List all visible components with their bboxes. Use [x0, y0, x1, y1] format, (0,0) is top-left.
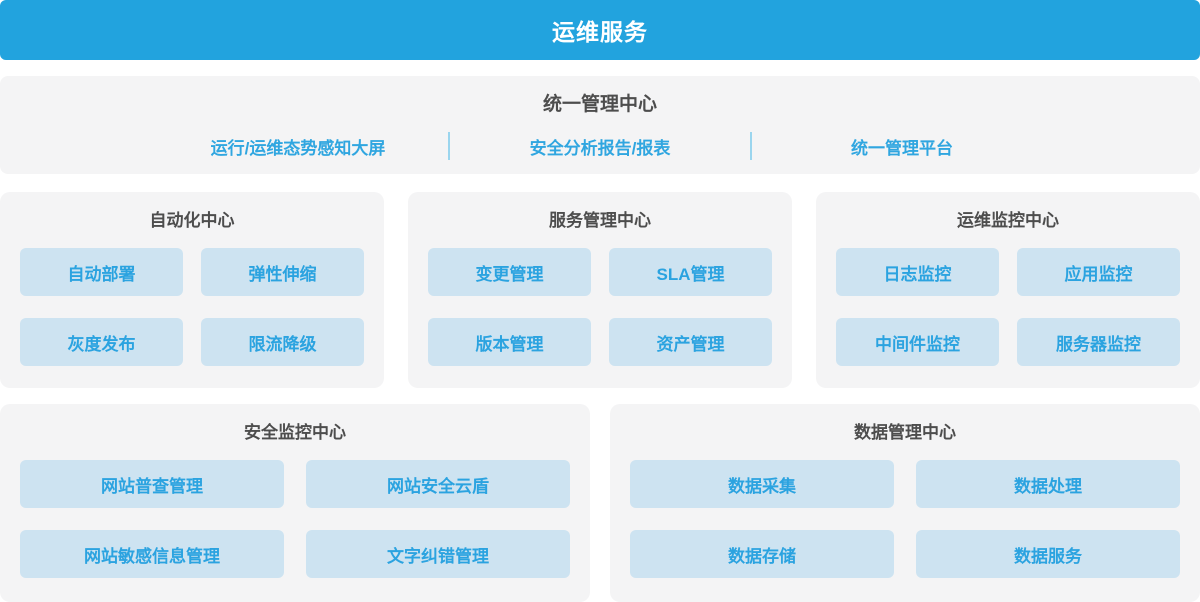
tile-application-monitoring[interactable]: 应用监控: [1017, 248, 1180, 296]
card-title-security-monitoring-center: 安全监控中心: [20, 420, 570, 446]
page-title: 运维服务: [552, 13, 648, 47]
tile-gray-release[interactable]: 灰度发布: [20, 318, 183, 366]
tile-data-collection[interactable]: 数据采集: [630, 460, 894, 508]
tile-website-census-management[interactable]: 网站普查管理: [20, 460, 284, 508]
tile-text-correction-management[interactable]: 文字纠错管理: [306, 530, 570, 578]
tile-asset-management[interactable]: 资产管理: [609, 318, 772, 366]
umc-link-dashboard[interactable]: 运行/运维态势感知大屏: [148, 134, 448, 159]
card-security-monitoring-center: 安全监控中心 网站普查管理 网站安全云盾 网站敏感信息管理 文字纠错管理: [0, 404, 590, 602]
unified-management-center-title: 统一管理中心: [0, 90, 1200, 120]
card-title-service-management-center: 服务管理中心: [428, 208, 772, 234]
header-bar: 运维服务: [0, 0, 1200, 60]
tile-grid-service-management-center: 变更管理 SLA管理 版本管理 资产管理: [428, 248, 772, 366]
tile-data-service[interactable]: 数据服务: [916, 530, 1180, 578]
tile-grid-security-monitoring-center: 网站普查管理 网站安全云盾 网站敏感信息管理 文字纠错管理: [20, 460, 570, 578]
tile-website-security-cloud-shield[interactable]: 网站安全云盾: [306, 460, 570, 508]
card-ops-monitoring-center: 运维监控中心 日志监控 应用监控 中间件监控 服务器监控: [816, 192, 1200, 388]
unified-management-center-links: 运行/运维态势感知大屏 安全分析报告/报表 统一管理平台: [0, 130, 1200, 162]
tile-grid-ops-monitoring-center: 日志监控 应用监控 中间件监控 服务器监控: [836, 248, 1180, 366]
card-data-management-center: 数据管理中心 数据采集 数据处理 数据存储 数据服务: [610, 404, 1200, 602]
tile-server-monitoring[interactable]: 服务器监控: [1017, 318, 1180, 366]
tile-log-monitoring[interactable]: 日志监控: [836, 248, 999, 296]
card-service-management-center: 服务管理中心 变更管理 SLA管理 版本管理 资产管理: [408, 192, 792, 388]
middle-card-row: 自动化中心 自动部署 弹性伸缩 灰度发布 限流降级 服务管理中心 变更管理 SL…: [0, 192, 1200, 388]
unified-management-center-section: 统一管理中心 运行/运维态势感知大屏 安全分析报告/报表 统一管理平台: [0, 76, 1200, 174]
card-title-ops-monitoring-center: 运维监控中心: [836, 208, 1180, 234]
card-title-automation-center: 自动化中心: [20, 208, 364, 234]
card-automation-center: 自动化中心 自动部署 弹性伸缩 灰度发布 限流降级: [0, 192, 384, 388]
architecture-diagram-page: 运维服务 统一管理中心 运行/运维态势感知大屏 安全分析报告/报表 统一管理平台…: [0, 0, 1200, 602]
tile-grid-data-management-center: 数据采集 数据处理 数据存储 数据服务: [630, 460, 1180, 578]
tile-grid-automation-center: 自动部署 弹性伸缩 灰度发布 限流降级: [20, 248, 364, 366]
tile-rate-limit-degrade[interactable]: 限流降级: [201, 318, 364, 366]
card-title-data-management-center: 数据管理中心: [630, 420, 1180, 446]
tile-change-management[interactable]: 变更管理: [428, 248, 591, 296]
tile-data-storage[interactable]: 数据存储: [630, 530, 894, 578]
tile-data-processing[interactable]: 数据处理: [916, 460, 1180, 508]
tile-sla-management[interactable]: SLA管理: [609, 248, 772, 296]
tile-version-management[interactable]: 版本管理: [428, 318, 591, 366]
bottom-card-row: 安全监控中心 网站普查管理 网站安全云盾 网站敏感信息管理 文字纠错管理 数据管…: [0, 404, 1200, 602]
tile-middleware-monitoring[interactable]: 中间件监控: [836, 318, 999, 366]
tile-website-sensitive-info-management[interactable]: 网站敏感信息管理: [20, 530, 284, 578]
tile-auto-deploy[interactable]: 自动部署: [20, 248, 183, 296]
umc-link-security-report[interactable]: 安全分析报告/报表: [450, 134, 750, 159]
umc-link-platform[interactable]: 统一管理平台: [752, 134, 1052, 159]
tile-elastic-scaling[interactable]: 弹性伸缩: [201, 248, 364, 296]
